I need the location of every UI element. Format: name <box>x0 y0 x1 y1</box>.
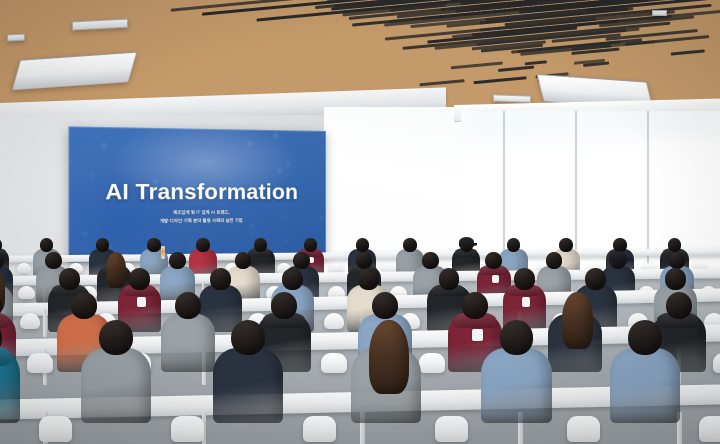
bokeh-dot <box>69 159 73 162</box>
audience-head <box>45 252 62 269</box>
bokeh-dot <box>273 133 278 138</box>
audience-head <box>59 268 80 290</box>
chair <box>27 353 53 373</box>
audience-torso <box>481 348 551 423</box>
audience-torso <box>610 348 680 423</box>
audience-head <box>668 238 682 252</box>
bokeh-dot <box>277 168 281 172</box>
audience-head <box>485 252 502 269</box>
audience-head <box>129 268 150 290</box>
audience-head <box>169 252 186 269</box>
bokeh-dot <box>101 143 106 148</box>
bokeh-dot <box>248 141 252 145</box>
audience-head <box>293 252 310 269</box>
audience-head <box>372 292 398 319</box>
audience-head <box>96 238 110 252</box>
chair <box>699 416 720 442</box>
audience-head <box>71 292 97 319</box>
audience-head <box>210 268 231 290</box>
lecture-room-photo: AI Transformation 제조업계 및 IT 업계 AI 트렌드, 개… <box>0 0 720 444</box>
audience-head <box>666 292 692 319</box>
audience-head <box>356 252 373 269</box>
audience-head <box>422 252 439 269</box>
audience-torso <box>81 348 151 423</box>
audience-head <box>628 320 662 355</box>
audience-head <box>235 252 252 269</box>
audience-head <box>613 238 627 252</box>
bokeh-dot <box>190 243 193 246</box>
audience-head <box>358 268 379 290</box>
bokeh-dot <box>235 160 236 161</box>
bokeh-dot <box>250 224 254 228</box>
bokeh-dot <box>320 217 323 220</box>
audience-head <box>147 238 161 252</box>
chair <box>39 416 73 442</box>
audience-head <box>231 320 265 355</box>
audience-long-hair <box>369 320 409 394</box>
audience-long-hair <box>106 252 126 288</box>
bokeh-dot <box>122 165 123 166</box>
chair <box>171 416 205 442</box>
audience-torso <box>213 348 283 423</box>
bokeh-dot <box>83 204 85 206</box>
audience-long-hair <box>562 292 593 349</box>
bokeh-dot <box>189 234 190 235</box>
audience-head <box>99 320 133 355</box>
chair <box>567 416 601 442</box>
ceiling-art-slat <box>671 49 705 55</box>
audience-head <box>175 292 201 319</box>
desk-leg <box>43 309 46 337</box>
audience-head <box>669 252 686 269</box>
chair <box>435 416 469 442</box>
chair <box>18 286 35 299</box>
chair <box>20 313 41 329</box>
audience-head <box>403 238 417 252</box>
bokeh-dot <box>285 239 289 243</box>
hoodie-logo <box>472 329 483 341</box>
audience-head <box>514 268 535 290</box>
chair <box>17 263 31 273</box>
audience-torso <box>161 314 215 372</box>
chair <box>324 313 345 329</box>
audience-head <box>356 238 370 252</box>
ceiling-art-slat <box>420 79 465 86</box>
audience-head <box>546 252 563 269</box>
slide-title: AI Transformation <box>82 181 319 203</box>
audience-head <box>254 238 268 252</box>
audience-head <box>304 238 318 252</box>
audience-cap <box>609 251 627 263</box>
chair <box>321 353 347 373</box>
bokeh-dot <box>88 174 92 178</box>
bokeh-dot <box>91 240 93 242</box>
audience-head <box>585 268 606 290</box>
ceiling-art-slat <box>498 66 534 72</box>
audience-head <box>507 238 521 252</box>
bokeh-dot <box>286 163 290 168</box>
slide-subtitle: 제조업계 및 IT 업계 AI 트렌드, 개발·디자인·기획 분야 활용 사례와… <box>90 208 306 225</box>
hoodie-logo <box>492 275 499 283</box>
downlight-dot-left <box>7 33 25 41</box>
audience-head <box>40 238 54 252</box>
ceiling-art-slat <box>451 61 503 69</box>
cap-brim <box>467 243 477 246</box>
bokeh-dot <box>249 232 252 235</box>
hoodie-logo <box>137 297 146 307</box>
audience-head <box>439 268 460 290</box>
audience-head <box>271 292 297 319</box>
audience-head <box>500 320 534 355</box>
chair <box>303 416 337 442</box>
audience-head <box>282 268 303 290</box>
hoodie-logo <box>522 297 531 307</box>
water-bottle-on-desk <box>161 246 165 259</box>
chair <box>419 353 445 373</box>
audience-head <box>665 268 686 290</box>
downlight-dot-right <box>652 10 667 16</box>
bokeh-dot <box>274 241 276 243</box>
audience-head <box>559 238 573 252</box>
audience-head <box>462 292 488 319</box>
audience-head <box>196 238 210 252</box>
ceiling-art-slat <box>474 77 527 85</box>
